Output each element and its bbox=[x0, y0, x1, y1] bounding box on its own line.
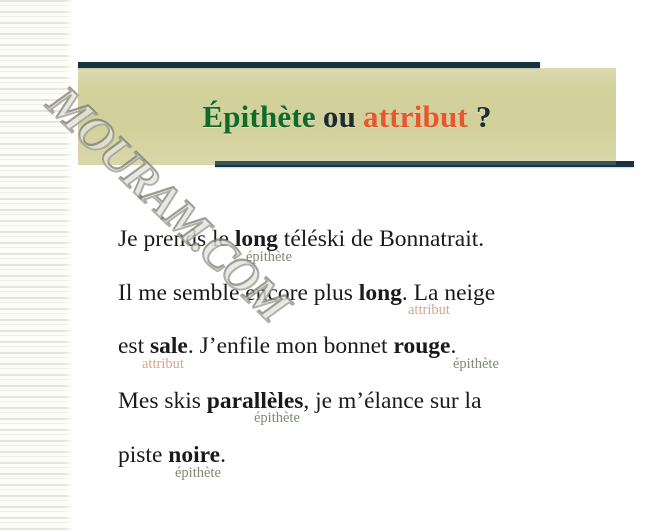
sentence-line: Je prends le long téléski de Bonnatrait. bbox=[118, 228, 628, 252]
title-word-epithete: Épithète bbox=[202, 99, 316, 135]
title-word-ou: ou bbox=[323, 99, 356, 135]
sentence-text: Il me semble encore plus bbox=[118, 280, 359, 306]
sentence-text: . J’enfile mon bonnet bbox=[188, 333, 394, 359]
annotation-label-epithete: épithète bbox=[246, 250, 292, 265]
sentence-line: piste noire. bbox=[118, 444, 628, 468]
annotation-row: attribut bbox=[118, 305, 628, 324]
sentence-line: est sale. J’enfile mon bonnet rouge. bbox=[118, 335, 628, 359]
title-question-mark: ? bbox=[476, 99, 492, 135]
annotation-label-attribut: attribut bbox=[408, 303, 450, 318]
keyword-word: rouge bbox=[393, 333, 450, 359]
page-title: Épithète ou attribut ? bbox=[78, 68, 616, 165]
annotation-label-epithete: épithète bbox=[453, 357, 499, 372]
keyword-word: long bbox=[359, 280, 402, 306]
annotation-label-attribut: attribut bbox=[142, 357, 184, 372]
sentence-text: Mes skis bbox=[118, 388, 207, 414]
annotation-row: épithète bbox=[118, 413, 628, 432]
annotation-row: épithète bbox=[118, 252, 628, 271]
sentence-line: Mes skis parallèles, je m’élance sur la bbox=[118, 390, 628, 414]
sentence-text: Je prends le bbox=[118, 226, 235, 252]
title-word-attribut: attribut bbox=[363, 99, 468, 135]
sentence-text: , je m’élance sur la bbox=[303, 388, 481, 414]
scan-texture-left-margin bbox=[0, 0, 74, 531]
sentence-text: téléski de Bonnatrait. bbox=[278, 226, 484, 252]
sentence-text: piste bbox=[118, 442, 168, 468]
annotation-label-epithete: épithète bbox=[254, 411, 300, 426]
slide-canvas: Épithète ou attribut ? MOURAM.COM Je pre… bbox=[0, 0, 649, 531]
annotation-row: épithète bbox=[118, 468, 628, 487]
sentence-line: Il me semble encore plus long. La neige bbox=[118, 282, 628, 306]
sentence-text: . bbox=[220, 442, 226, 468]
exercise-sentences: Je prends le long téléski de Bonnatrait.… bbox=[118, 228, 628, 487]
annotation-label-epithete: épithète bbox=[175, 466, 221, 481]
annotation-row: attributépithète bbox=[118, 359, 628, 378]
